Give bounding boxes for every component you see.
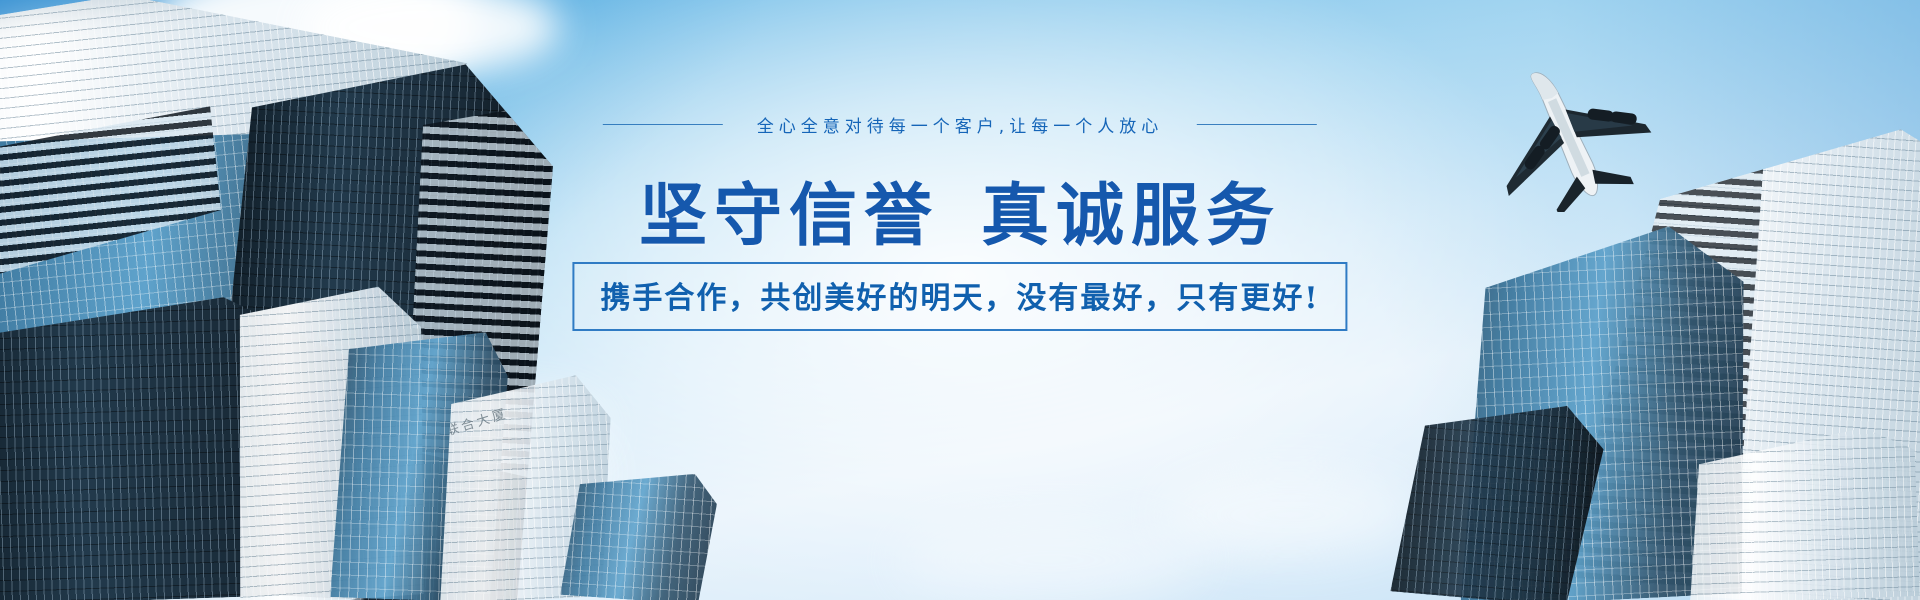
cloud-icon xyxy=(1160,470,1420,560)
skyscraper-icon xyxy=(560,465,719,600)
airplane-icon xyxy=(1474,52,1664,212)
eyebrow-text: 全心全意对待每一个客户,让每一个人放心 xyxy=(757,112,1163,137)
page-title: 坚守信誉真诚服务 xyxy=(639,160,1281,259)
rule-left xyxy=(603,124,723,125)
subtitle-text: 携手合作，共创美好的明天，没有最好，只有更好! xyxy=(600,273,1319,317)
rule-right xyxy=(1197,124,1317,125)
cloud-icon xyxy=(900,520,1200,600)
headline-right: 真诚服务 xyxy=(981,176,1281,256)
subtitle-box: 携手合作，共创美好的明天，没有最好，只有更好! xyxy=(572,262,1347,331)
headline-left: 坚守信誉 xyxy=(639,176,939,256)
eyebrow-row: 全心全意对待每一个客户,让每一个人放心 xyxy=(603,112,1317,137)
hero-banner: 联合大厦 xyxy=(0,0,1920,600)
